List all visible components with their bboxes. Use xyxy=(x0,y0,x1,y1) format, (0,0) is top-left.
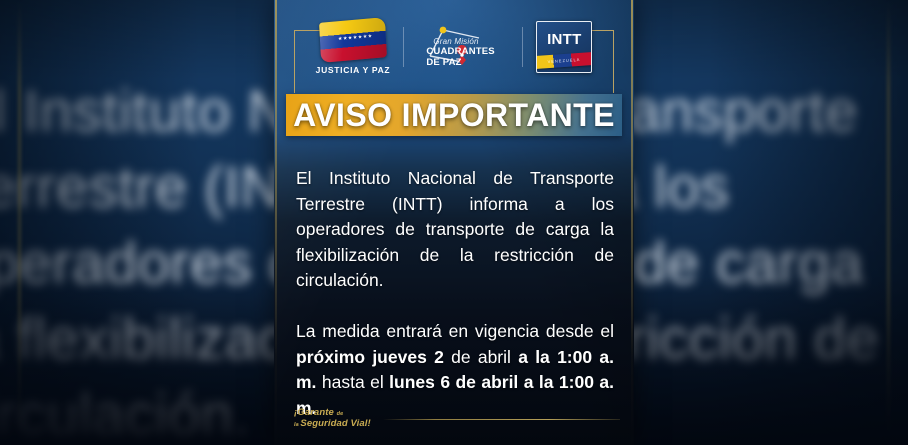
flag-caption: JUSTICIA Y PAZ xyxy=(316,65,391,75)
venezuela-flag-icon: ★★★★★★★ xyxy=(319,17,387,63)
notice-p2-part2: de abril xyxy=(444,347,518,367)
cuadrantes-mark: Gran Misión CUADRANTES DE PAZ xyxy=(417,22,509,72)
slogan-line1-pre: ¡Garante xyxy=(294,407,337,418)
notice-paragraph-2: La medida entrará en vigencia desde el p… xyxy=(296,319,614,421)
logo-divider xyxy=(522,27,523,67)
intt-ribbon-label: VENEZUELA xyxy=(536,52,592,69)
slogan-line2: Seguridad Vial! xyxy=(300,418,370,429)
notice-paragraph-1: El Instituto Nacional de Transporte Terr… xyxy=(296,166,614,319)
poster-footer: ¡Garante de la Seguridad Vial! xyxy=(294,407,620,431)
justicia-y-paz-logo: ★★★★★★★ JUSTICIA Y PAZ xyxy=(316,20,391,75)
logo-row: ★★★★★★★ JUSTICIA Y PAZ Gran Mi xyxy=(274,14,634,80)
footer-slogan: ¡Garante de la Seguridad Vial! xyxy=(294,408,371,431)
cuadrantes-de-paz-logo: Gran Misión CUADRANTES DE PAZ xyxy=(417,22,509,72)
poster-viewer: El Instituto Nacional de Transporte Terr… xyxy=(0,0,908,445)
notice-p2-part1: La medida entrará en vigencia desde el xyxy=(296,321,614,341)
cuadrantes-line2: CUADRANTES DE PAZ xyxy=(426,46,509,68)
notice-p2-part3: hasta el xyxy=(316,372,389,392)
intt-logo: INTT VENEZUELA xyxy=(536,21,592,73)
cuadrantes-line1: Gran Misión xyxy=(433,37,478,46)
poster-card: ★★★★★★★ JUSTICIA Y PAZ Gran Mi xyxy=(274,0,634,445)
flag-gloss xyxy=(319,17,387,63)
footer-gold-rule xyxy=(383,419,620,420)
intt-mark: INTT VENEZUELA xyxy=(536,21,592,73)
page-title: AVISO IMPORTANTE xyxy=(293,97,615,134)
slogan-line1-sm: de xyxy=(337,411,344,417)
intt-ribbon: VENEZUELA xyxy=(536,52,592,69)
notice-body: El Instituto Nacional de Transporte Terr… xyxy=(296,166,614,421)
intt-text: INTT xyxy=(537,31,591,48)
title-banner: AVISO IMPORTANTE xyxy=(286,94,622,136)
notice-p2-bold1: próximo jueves 2 xyxy=(296,347,444,367)
logo-divider xyxy=(403,27,404,67)
